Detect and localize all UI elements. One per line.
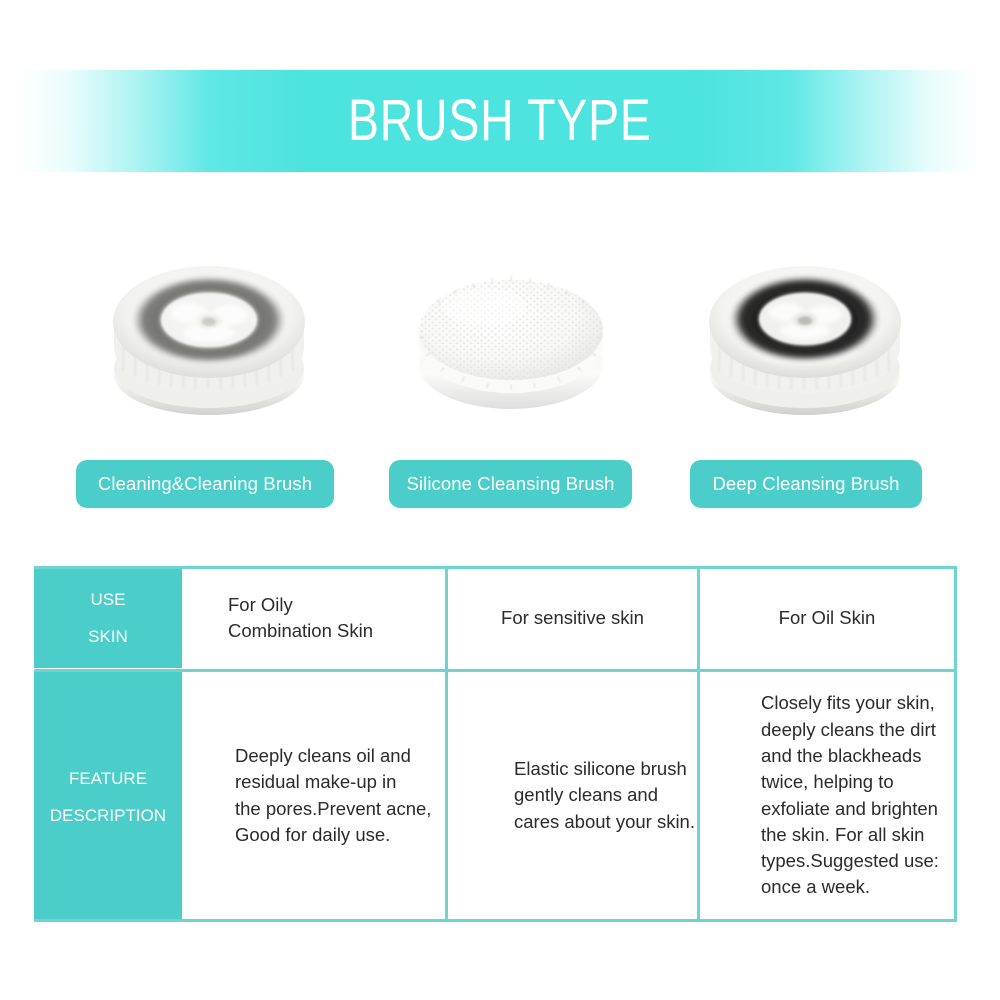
product-label-cleaning-cleaning-brush[interactable]: Cleaning&Cleaning Brush (76, 460, 334, 508)
table-bottom-border (34, 919, 957, 922)
silicone-cleansing-brush-photo (396, 225, 626, 440)
row-label-feature-description: FEATURE DESCRIPTION (34, 672, 182, 922)
table-right-border (954, 566, 957, 922)
table-cell-use-deep-cleansing-brush: For Oil Skin (700, 568, 954, 668)
table-cell-feature-silicone-cleansing-brush: Elastic silicone brushgently cleans andc… (448, 672, 697, 919)
product-label-silicone-cleansing-brush[interactable]: Silicone Cleansing Brush (389, 460, 632, 508)
product-figure-cleaning-cleaning-brush (94, 225, 324, 440)
deep-cleansing-brush-photo (690, 225, 920, 440)
product-label-deep-cleansing-brush[interactable]: Deep Cleansing Brush (690, 460, 922, 508)
header-banner: BRUSH TYPE (0, 70, 1000, 172)
cleaning-cleaning-brush-photo (94, 225, 324, 440)
row-label-feature-description-line1: FEATURE (69, 769, 147, 789)
table-cell-feature-cleaning-cleaning-brush: Deeply cleans oil andresidual make-up in… (182, 672, 445, 919)
table-cell-feature-deep-cleansing-brush: Closely fits your skin,deeply cleans the… (700, 672, 954, 919)
product-figure-deep-cleansing-brush (690, 225, 920, 440)
page-title: BRUSH TYPE (348, 92, 652, 150)
table-column-divider-4 (697, 672, 700, 922)
table-cell-use-silicone-cleansing-brush: For sensitive skin (448, 568, 697, 668)
row-label-feature-description-line2: DESCRIPTION (50, 806, 166, 826)
row-label-use-skin: USE SKIN (34, 568, 182, 668)
table-row-divider (34, 669, 957, 672)
table-top-border (34, 566, 957, 569)
table-column-divider-1 (445, 566, 448, 669)
table-column-divider-2 (697, 566, 700, 669)
product-image-row (0, 225, 1000, 440)
table-column-divider-3 (445, 672, 448, 922)
row-label-use-skin-line1: USE (91, 590, 126, 610)
product-figure-silicone-cleansing-brush (396, 225, 626, 440)
table-cell-use-cleaning-cleaning-brush: For OilyCombination Skin (182, 568, 445, 668)
specification-table: USE SKIN FEATURE DESCRIPTION For OilyCom… (34, 566, 957, 922)
row-label-use-skin-line2: SKIN (88, 627, 128, 647)
product-infographic-page: BRUSH TYPE (0, 0, 1000, 1000)
